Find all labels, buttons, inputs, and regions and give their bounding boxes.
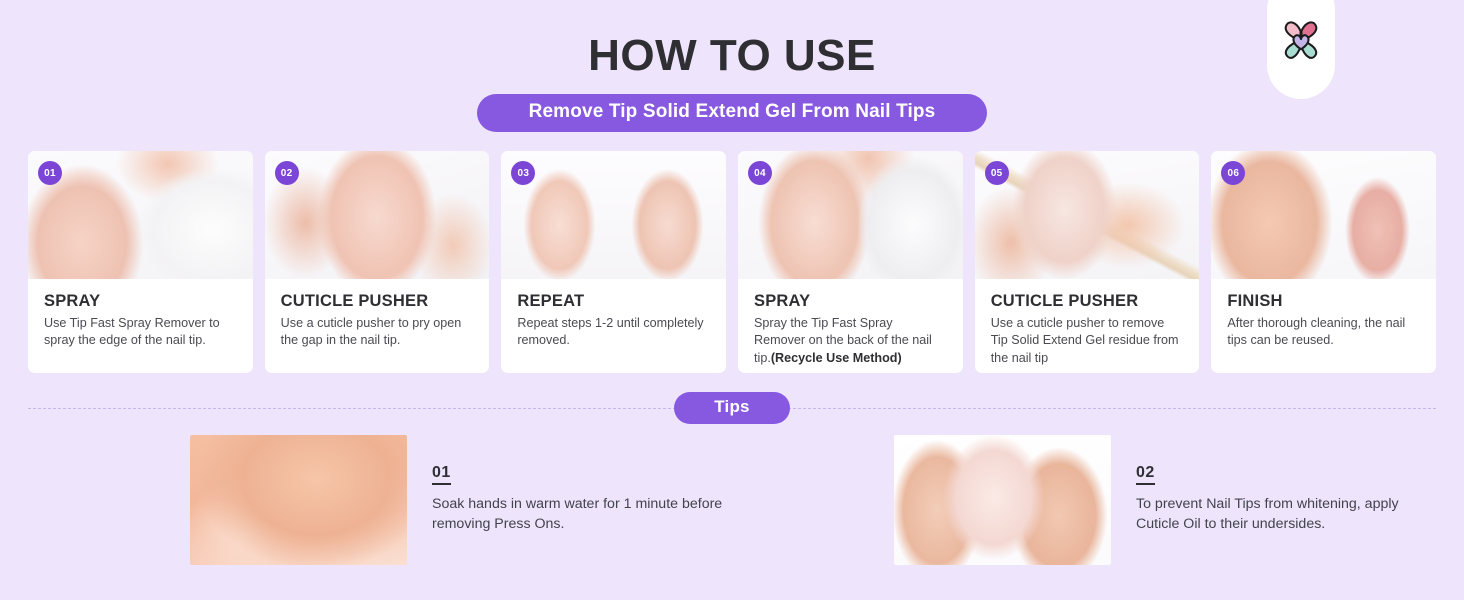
step-card: 04 SPRAY Spray the Tip Fast Spray Remove… (738, 151, 963, 373)
step-title: REPEAT (517, 292, 710, 311)
step-image: 04 (738, 151, 963, 279)
applying-cuticle-oil-under-nail-tip-photo (894, 435, 1111, 565)
step-image: 01 (28, 151, 253, 279)
tip-item: 01 Soak hands in warm water for 1 minute… (28, 435, 732, 565)
step-title: SPRAY (44, 292, 237, 311)
step-text: CUTICLE PUSHER Use a cuticle pusher to p… (265, 279, 490, 350)
step-card: 06 FINISH After thorough cleaning, the n… (1211, 151, 1436, 373)
tips-list: 01 Soak hands in warm water for 1 minute… (0, 423, 1464, 565)
repeat-steps-two-nails-photo (501, 151, 726, 279)
tip-item: 02 To prevent Nail Tips from whitening, … (732, 435, 1436, 565)
step-description-text: Use a cuticle pusher to remove Tip Solid… (991, 316, 1179, 365)
tips-section-divider: Tips (28, 393, 1436, 423)
step-title: FINISH (1227, 292, 1420, 311)
tip-image (894, 435, 1111, 565)
step-title: CUTICLE PUSHER (991, 292, 1184, 311)
step-description-emphasis: (Recycle Use Method) (771, 351, 902, 365)
step-title: CUTICLE PUSHER (281, 292, 474, 311)
step-badge: 05 (985, 161, 1009, 185)
step-description-text: Use Tip Fast Spray Remover to spray the … (44, 316, 220, 347)
step-image: 05 (975, 151, 1200, 279)
step-card: 03 REPEAT Repeat steps 1-2 until complet… (501, 151, 726, 373)
tip-text: 01 Soak hands in warm water for 1 minute… (407, 435, 732, 534)
page-title: HOW TO USE (0, 34, 1464, 78)
tip-description: To prevent Nail Tips from whitening, app… (1136, 494, 1436, 534)
step-image: 02 (265, 151, 490, 279)
step-text: CUTICLE PUSHER Use a cuticle pusher to r… (975, 279, 1200, 367)
step-description: Use a cuticle pusher to remove Tip Solid… (991, 315, 1184, 367)
step-card: 01 SPRAY Use Tip Fast Spray Remover to s… (28, 151, 253, 373)
step-image: 03 (501, 151, 726, 279)
step-description: Repeat steps 1-2 until completely remove… (517, 315, 710, 350)
tips-label-pill: Tips (674, 392, 789, 424)
tip-number: 01 (432, 464, 451, 485)
step-description: Use a cuticle pusher to pry open the gap… (281, 315, 474, 350)
four-heart-flower-logo-icon (1278, 17, 1324, 63)
tip-number: 02 (1136, 464, 1155, 485)
finished-reusable-nail-tip-photo (1211, 151, 1436, 279)
step-badge: 01 (38, 161, 62, 185)
how-to-use-steps: 01 SPRAY Use Tip Fast Spray Remover to s… (0, 132, 1464, 373)
tip-image (190, 435, 407, 565)
step-badge: 04 (748, 161, 772, 185)
step-description-text: Repeat steps 1-2 until completely remove… (517, 316, 703, 347)
step-text: SPRAY Use Tip Fast Spray Remover to spra… (28, 279, 253, 350)
brand-logo-tab (1267, 0, 1335, 99)
page-header: HOW TO USE Remove Tip Solid Extend Gel F… (0, 0, 1464, 132)
tip-description: Soak hands in warm water for 1 minute be… (432, 494, 732, 534)
step-description: Spray the Tip Fast Spray Remover on the … (754, 315, 947, 367)
step-text: SPRAY Spray the Tip Fast Spray Remover o… (738, 279, 963, 367)
step-description-text: After thorough cleaning, the nail tips c… (1227, 316, 1405, 347)
step-card: 05 CUTICLE PUSHER Use a cuticle pusher t… (975, 151, 1200, 373)
step-title: SPRAY (754, 292, 947, 311)
step-card: 02 CUTICLE PUSHER Use a cuticle pusher t… (265, 151, 490, 373)
tip-text: 02 To prevent Nail Tips from whitening, … (1111, 435, 1436, 534)
step-description-text: Use a cuticle pusher to pry open the gap… (281, 316, 462, 347)
step-text: FINISH After thorough cleaning, the nail… (1211, 279, 1436, 350)
step-description: After thorough cleaning, the nail tips c… (1227, 315, 1420, 350)
page-subtitle-pill: Remove Tip Solid Extend Gel From Nail Ti… (477, 94, 988, 132)
hand-soaking-in-warm-water-photo (190, 435, 407, 565)
step-description: Use Tip Fast Spray Remover to spray the … (44, 315, 237, 350)
step-image: 06 (1211, 151, 1436, 279)
step-badge: 02 (275, 161, 299, 185)
step-text: REPEAT Repeat steps 1-2 until completely… (501, 279, 726, 350)
